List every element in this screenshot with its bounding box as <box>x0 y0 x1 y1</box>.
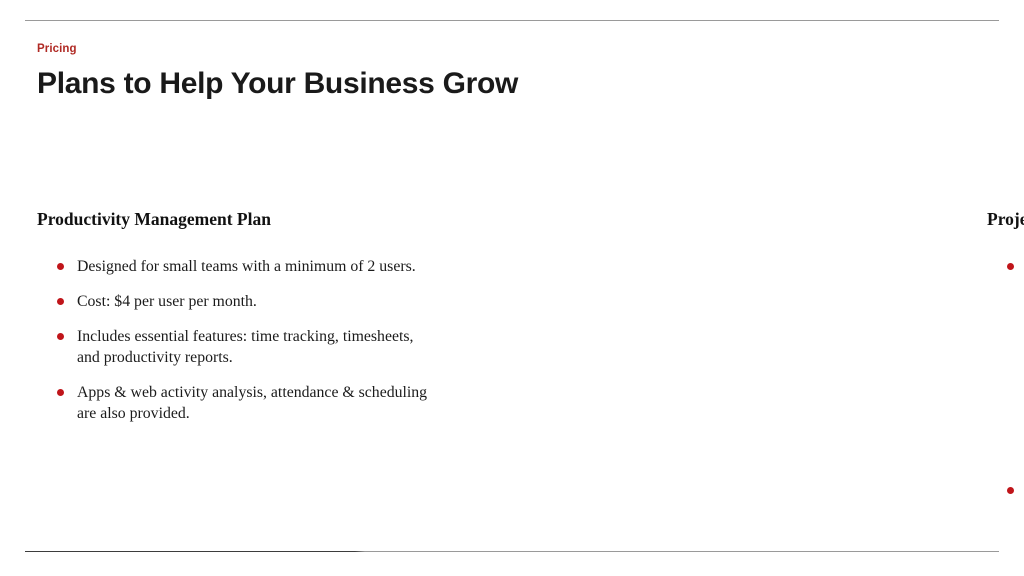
list-item: Apps & web activity analysis, attendance… <box>37 382 475 424</box>
plan-columns: Productivity Management Plan Designed fo… <box>0 208 1024 576</box>
slide-header: Pricing Plans to Help Your Business Grow <box>37 42 937 103</box>
list-item: Cost: $4 per user per month. <box>37 291 475 312</box>
eyebrow-label: Pricing <box>37 42 937 56</box>
plan-heading-project: Project Management Plan <box>987 208 1024 230</box>
plan-feature-list-project: Ideal for growing businesses with a mini… <box>987 256 1024 576</box>
bottom-divider <box>25 551 999 552</box>
list-item: Ideal for growing businesses with a mini… <box>987 256 1024 466</box>
top-divider <box>25 20 999 21</box>
bullet-dot-icon <box>57 263 64 270</box>
list-item: Includes essential features: time tracki… <box>37 326 475 368</box>
list-item-text: Apps & web activity analysis, attendance… <box>77 382 435 424</box>
pricing-slide: Pricing Plans to Help Your Business Grow… <box>0 0 1024 576</box>
list-item-text: Includes essential features: time tracki… <box>77 326 435 368</box>
bullet-dot-icon <box>1007 263 1014 270</box>
list-item-text: Cost: $4 per user per month. <box>77 291 435 312</box>
bullet-dot-icon <box>1007 487 1014 494</box>
list-item: Designed for small teams with a minimum … <box>37 256 475 277</box>
bullet-dot-icon <box>57 298 64 305</box>
plan-column-productivity: Productivity Management Plan Designed fo… <box>0 208 475 576</box>
plan-column-project: Project Management Plan Ideal for growin… <box>475 208 1024 576</box>
list-item-text: Designed for small teams with a minimum … <box>77 256 435 277</box>
plan-heading-productivity: Productivity Management Plan <box>37 208 475 230</box>
plan-feature-list-productivity: Designed for small teams with a minimum … <box>37 256 475 424</box>
bullet-dot-icon <box>57 389 64 396</box>
list-item: Cost: $4 per user per month. <box>987 480 1024 576</box>
bullet-dot-icon <box>57 333 64 340</box>
page-title: Plans to Help Your Business Grow <box>37 65 937 103</box>
